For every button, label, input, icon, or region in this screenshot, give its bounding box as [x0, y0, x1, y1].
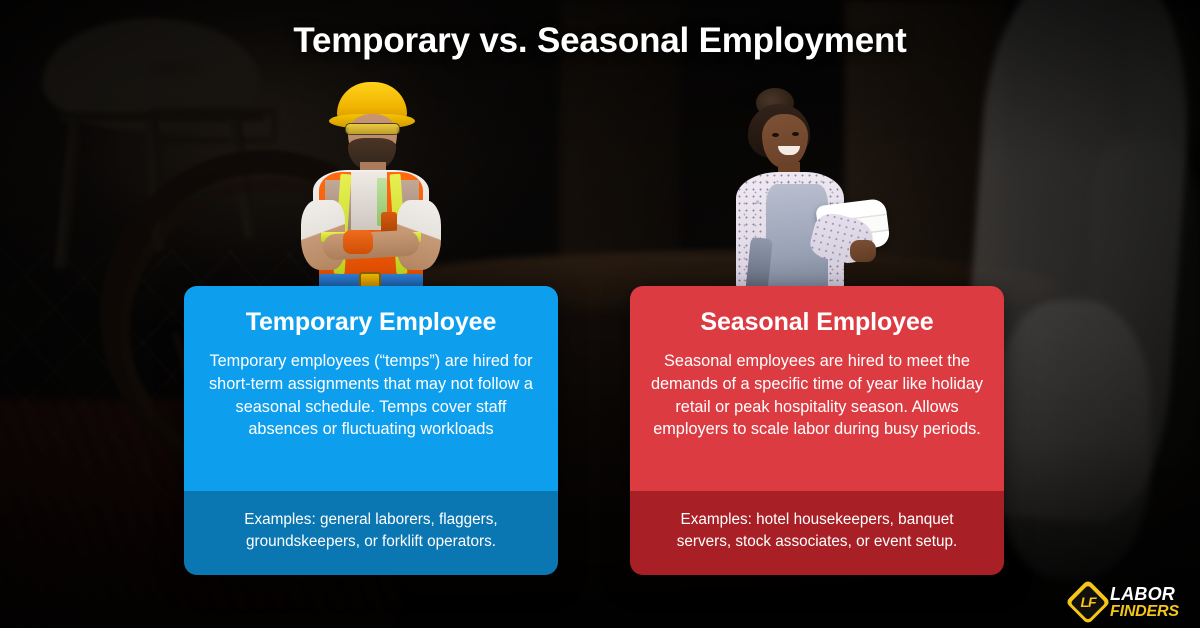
seasonal-card-examples: Examples: hotel housekeepers, banquet se…	[630, 491, 1004, 575]
temporary-card-examples: Examples: general laborers, flaggers, gr…	[184, 491, 558, 575]
seasonal-card-body: Seasonal Employee Seasonal employees are…	[630, 286, 1004, 491]
hospitality-housekeeper-photo	[722, 88, 888, 294]
temporary-card-examples-text: Examples: general laborers, flaggers, gr…	[206, 509, 536, 553]
page-title: Temporary vs. Seasonal Employment	[0, 21, 1200, 61]
housekeeper-face	[762, 114, 808, 168]
logo-labor-text: LABOR	[1110, 585, 1179, 603]
seasonal-card-description: Seasonal employees are hired to meet the…	[650, 350, 984, 441]
logo-wordmark: LABOR FINDERS	[1110, 585, 1179, 620]
seasonal-card-examples-text: Examples: hotel housekeepers, banquet se…	[652, 509, 982, 553]
labor-finders-diamond-icon: LF	[1065, 579, 1110, 624]
construction-worker-photo	[293, 82, 443, 294]
temporary-employee-card: Temporary Employee Temporary employees (…	[184, 286, 558, 575]
logo-monogram: LF	[1072, 586, 1104, 618]
worker-glove	[343, 230, 373, 254]
background-vignette-overlay	[0, 0, 1200, 628]
temporary-card-description: Temporary employees (“temps”) are hired …	[204, 350, 538, 441]
safety-glasses	[345, 123, 400, 135]
temporary-card-heading: Temporary Employee	[204, 308, 538, 337]
seasonal-employee-card: Seasonal Employee Seasonal employees are…	[630, 286, 1004, 575]
seasonal-card-heading: Seasonal Employee	[650, 308, 984, 337]
temporary-card-body: Temporary Employee Temporary employees (…	[184, 286, 558, 491]
housekeeper-eye	[792, 132, 799, 136]
housekeeper-hand	[850, 240, 876, 262]
infographic-canvas: Temporary vs. Seasonal Employment	[0, 0, 1200, 628]
housekeeper-eye	[772, 133, 779, 137]
logo-finders-text: FINDERS	[1110, 604, 1179, 620]
labor-finders-logo: LF LABOR FINDERS	[1072, 583, 1190, 621]
